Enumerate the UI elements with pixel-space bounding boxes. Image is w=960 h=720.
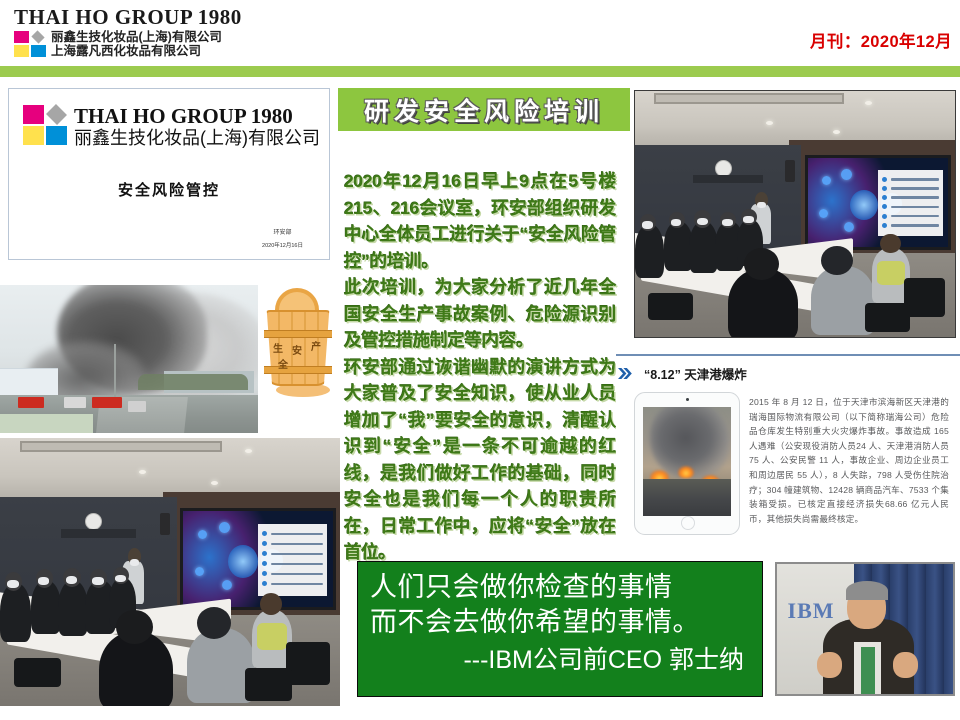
- chair: [865, 303, 910, 333]
- left-building: [0, 368, 58, 395]
- safety-bucket-illustration: 生 产 安 全: [258, 288, 338, 406]
- screen-node: [195, 567, 204, 576]
- body-paragraph-2: 此次培训，为大家分析了近几年全国安全生产事故案例、危险源识别及管控措施制定等内容…: [344, 274, 616, 354]
- screen-agenda-item: [262, 581, 323, 586]
- screen-center-graphic: [850, 190, 878, 220]
- training-session-photo-top-right: [634, 90, 956, 338]
- chair: [286, 642, 330, 685]
- presentation-title-slide: THAI HO GROUP 1980 丽鑫生技化妆品(上海)有限公司 安全风险管…: [8, 88, 330, 260]
- attendee-head: [197, 607, 231, 639]
- face-mask-icon: [697, 218, 708, 225]
- face-mask-icon: [66, 576, 78, 584]
- bucket-char-3: 安: [292, 342, 302, 357]
- attendee-head: [260, 593, 282, 614]
- company-logo: THAI HO GROUP 1980 丽鑫生技化妆品(上海)有限公司 上海露凡西…: [14, 6, 242, 58]
- cyan-square-icon: [31, 45, 46, 57]
- fire-truck: [92, 397, 122, 408]
- screen-agenda-item: [882, 223, 939, 228]
- screen-agenda-item: [882, 214, 939, 219]
- slide-company-cn: 丽鑫生技化妆品(上海)有限公司: [74, 128, 320, 149]
- company-name-en: THAI HO GROUP 1980: [14, 6, 242, 28]
- attendee: [664, 221, 693, 270]
- attendee-head: [116, 610, 153, 645]
- bucket-char-4: 全: [278, 356, 288, 371]
- article-title-text: 研发安全风险培训: [364, 92, 604, 128]
- screen-agenda-item: [262, 541, 323, 546]
- bucket-char-1: 生: [273, 340, 283, 355]
- debris-field: [643, 479, 731, 516]
- face-mask-icon: [7, 580, 19, 588]
- screen-agenda-item: [262, 571, 323, 576]
- chair: [245, 668, 293, 700]
- face-mask-icon: [757, 202, 765, 208]
- chair: [904, 278, 946, 317]
- company-name-cn-2: 上海露凡西化妆品有限公司: [51, 45, 201, 58]
- face-mask-icon: [92, 577, 103, 585]
- article-body: 2020年12月16日早上9点在5号楼215、216会议室，环安部组织研发中心全…: [344, 168, 616, 566]
- person-hand-left: [817, 652, 842, 678]
- yellow-square-icon: [14, 45, 29, 57]
- ceiling-light-icon: [766, 121, 773, 125]
- magenta-square-icon: [14, 31, 29, 43]
- fire-truck: [128, 401, 146, 412]
- ceiling-light-icon: [211, 481, 218, 485]
- body-paragraph-3: 环安部通过诙谐幽默的演讲方式为大家普及了安全知识，使从业人员增加了“我”要安全的…: [344, 354, 616, 566]
- logo-row-1: 丽鑫生技化妆品(上海)有限公司: [14, 30, 242, 44]
- projection-screen: [805, 155, 952, 250]
- wall-shelf: [61, 529, 136, 538]
- slide-company-en: THAI HO GROUP 1980: [74, 105, 320, 127]
- bucket-hoop: [264, 366, 332, 374]
- fire-truck: [18, 397, 44, 408]
- chair: [648, 293, 693, 320]
- attendee: [635, 224, 664, 278]
- screen-node: [841, 169, 852, 180]
- article-top-rule: [616, 354, 960, 356]
- wall-speaker: [785, 160, 795, 182]
- slide-footer: 环安部 2020年12月16日: [262, 228, 303, 251]
- chair: [14, 658, 62, 687]
- factory-fire-photo: [0, 285, 258, 433]
- article-body-text: 2015 年 8 月 12 日，位于天津市滨海新区天津港的瑞海国际物流有限公司（…: [749, 395, 949, 526]
- header-divider: [0, 66, 960, 77]
- conference-room-scene: [0, 438, 340, 706]
- bucket-char-2: 产: [311, 338, 321, 353]
- article-heading-text: “8.12” 天津港爆炸: [644, 364, 747, 383]
- projection-screen: [180, 508, 336, 610]
- person-hand-right: [893, 652, 918, 678]
- screen-agenda-item: [882, 204, 939, 209]
- quote-box: 人们只会做你检查的事情 而不会去做你希望的事情。 ---IBM公司前CEO 郭士…: [357, 561, 763, 697]
- attendee-head: [821, 246, 853, 276]
- article-title-banner: 研发安全风险培训: [338, 88, 630, 131]
- fire-truck: [64, 397, 86, 408]
- wall-clock-icon: [85, 513, 102, 530]
- body-paragraph-1: 2020年12月16日早上9点在5号楼215、216会议室，环安部组织研发中心全…: [344, 168, 616, 274]
- attendee-clothing: [257, 623, 288, 650]
- slide-department: 环安部: [262, 228, 303, 238]
- magenta-square-icon: [23, 105, 44, 124]
- slide-logo-swatches: [23, 105, 67, 145]
- gray-diamond-icon: [46, 104, 67, 125]
- wall-shelf: [693, 175, 763, 184]
- slide-logo: THAI HO GROUP 1980 丽鑫生技化妆品(上海)有限公司: [23, 105, 320, 149]
- face-mask-icon: [115, 575, 126, 582]
- screen-agenda-item: [262, 531, 323, 536]
- tablet-camera-icon: [686, 398, 689, 401]
- yellow-square-icon: [23, 126, 44, 145]
- double-chevron-right-icon: [618, 367, 634, 380]
- screen-center-graphic: [228, 545, 258, 578]
- ceiling-inset: [654, 93, 844, 103]
- training-session-photo-bottom-left: [0, 438, 340, 706]
- attendee: [0, 583, 31, 642]
- screen-agenda-panel: [878, 170, 943, 236]
- logo-row-2: 上海露凡西化妆品有限公司: [14, 44, 242, 58]
- screen-agenda-item: [882, 177, 939, 182]
- attendee: [689, 221, 718, 273]
- cyan-square-icon: [46, 126, 67, 145]
- canal-water: [0, 414, 93, 433]
- tablet-home-button-icon: [681, 516, 695, 530]
- screen-node: [822, 176, 831, 185]
- roadside-trees: [138, 374, 248, 390]
- slide-subject-title: 安全风险管控: [9, 179, 329, 200]
- slide-date: 2020年12月16日: [262, 241, 303, 251]
- ceiling-light-icon: [245, 449, 252, 453]
- attendee: [31, 580, 62, 634]
- bucket-hoop: [264, 330, 332, 338]
- face-mask-icon: [722, 219, 733, 226]
- face-mask-icon: [38, 577, 49, 585]
- quote-line-1: 人们只会做你检查的事情: [370, 570, 750, 605]
- screen-node: [844, 222, 854, 232]
- screen-agenda-item: [882, 186, 939, 191]
- screen-agenda-item: [882, 195, 939, 200]
- ibm-wordmark: IBM: [788, 598, 835, 624]
- attendee: [58, 580, 89, 636]
- wall-speaker: [160, 513, 170, 535]
- attendee-clothing: [877, 261, 906, 286]
- tablet-screen-photo: [643, 407, 731, 516]
- article-heading-row: “8.12” 天津港爆炸: [618, 364, 747, 383]
- quote-line-2: 而不会去做你希望的事情。: [370, 605, 750, 640]
- monthly-issue-label: 月刊：2020年12月: [810, 28, 952, 52]
- tianjin-explosion-article: “8.12” 天津港爆炸 2015 年 8 月 12 日，位于天津市滨海新区天津…: [616, 348, 960, 548]
- fire-flame: [678, 466, 694, 478]
- company-name-cn-1: 丽鑫生技化妆品(上海)有限公司: [51, 31, 222, 44]
- person-hair: [846, 581, 888, 601]
- tablet-device-frame: [634, 392, 740, 535]
- face-mask-icon: [671, 219, 682, 226]
- face-mask-icon: [130, 559, 139, 566]
- screen-agenda-item: [262, 561, 323, 566]
- attendee-head: [880, 234, 901, 254]
- conference-room-scene: [635, 91, 955, 337]
- screen-agenda-panel: [258, 524, 327, 595]
- quote-attribution: ---IBM公司前CEO 郭士纳: [370, 643, 750, 677]
- face-mask-icon: [642, 221, 653, 228]
- ceiling-inset: [20, 441, 221, 452]
- person-tie: [861, 647, 875, 694]
- page-header: THAI HO GROUP 1980 丽鑫生技化妆品(上海)有限公司 上海露凡西…: [0, 0, 960, 66]
- ibm-ceo-photo: IBM: [775, 562, 955, 696]
- gray-diamond-icon: [31, 30, 44, 43]
- face-mask-icon: [743, 216, 753, 223]
- screen-agenda-item: [262, 551, 323, 556]
